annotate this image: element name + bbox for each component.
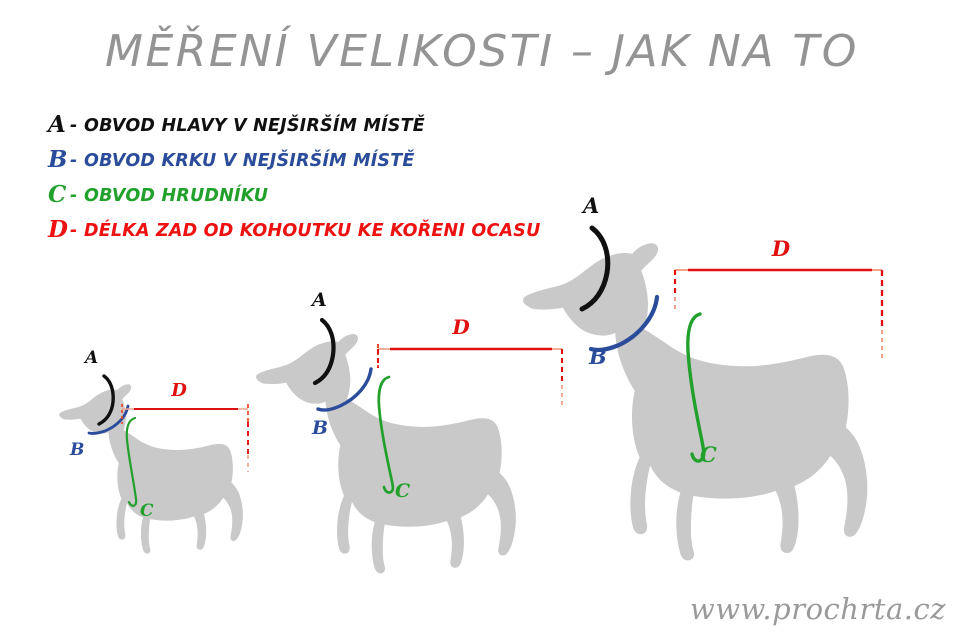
- small-dog-label-b: B: [69, 440, 84, 460]
- legend-key-d: D: [47, 216, 68, 243]
- legend-item-d: D - DÉLKA ZAD OD KOHOUTKU KE KOŘENI OCAS…: [47, 216, 541, 243]
- small-dog-label-a: A: [83, 348, 98, 368]
- legend-text-d: DÉLKA ZAD OD KOHOUTKU KE KOŘENI OCASU: [84, 219, 541, 241]
- legend-item-a: A - OBVOD HLAVY V NEJŠIRŠÍM MÍSTĚ: [46, 111, 425, 138]
- legend-dash-a: -: [70, 116, 77, 136]
- medium-dog-label-b: B: [311, 417, 328, 439]
- watermark: www.prochrta.cz: [690, 592, 946, 626]
- large-dog-label-c: C: [700, 442, 717, 467]
- legend-key-c: C: [48, 181, 67, 208]
- legend-text-a: OBVOD HLAVY V NEJŠIRŠÍM MÍSTĚ: [84, 114, 425, 136]
- large-dog-label-b: B: [588, 344, 607, 369]
- infographic-canvas: MĚŘENÍ VELIKOSTI – JAK NA TO A - OBVOD H…: [0, 0, 964, 643]
- small-dog-label-c: C: [140, 501, 154, 521]
- large-dog-label-a: A: [581, 193, 599, 218]
- legend-text-c: OBVOD HRUDNÍKU: [84, 184, 268, 206]
- page-title: MĚŘENÍ VELIKOSTI – JAK NA TO: [105, 24, 859, 77]
- legend-dash-d: -: [70, 221, 77, 241]
- legend-dash-c: -: [70, 186, 77, 206]
- legend-item-b: B - OBVOD KRKU V NEJŠIRŠÍM MÍSTĚ: [47, 146, 415, 173]
- legend-dash-b: -: [70, 151, 77, 171]
- small-dog-label-d: D: [170, 380, 187, 401]
- legend-text-b: OBVOD KRKU V NEJŠIRŠÍM MÍSTĚ: [84, 149, 415, 171]
- medium-dog-label-d: D: [451, 315, 470, 339]
- medium-dog-label-a: A: [310, 289, 327, 311]
- legend-key-a: A: [46, 111, 66, 138]
- medium-dog-label-c: C: [395, 480, 410, 502]
- large-dog-label-d: D: [771, 236, 791, 261]
- legend-key-b: B: [47, 146, 67, 173]
